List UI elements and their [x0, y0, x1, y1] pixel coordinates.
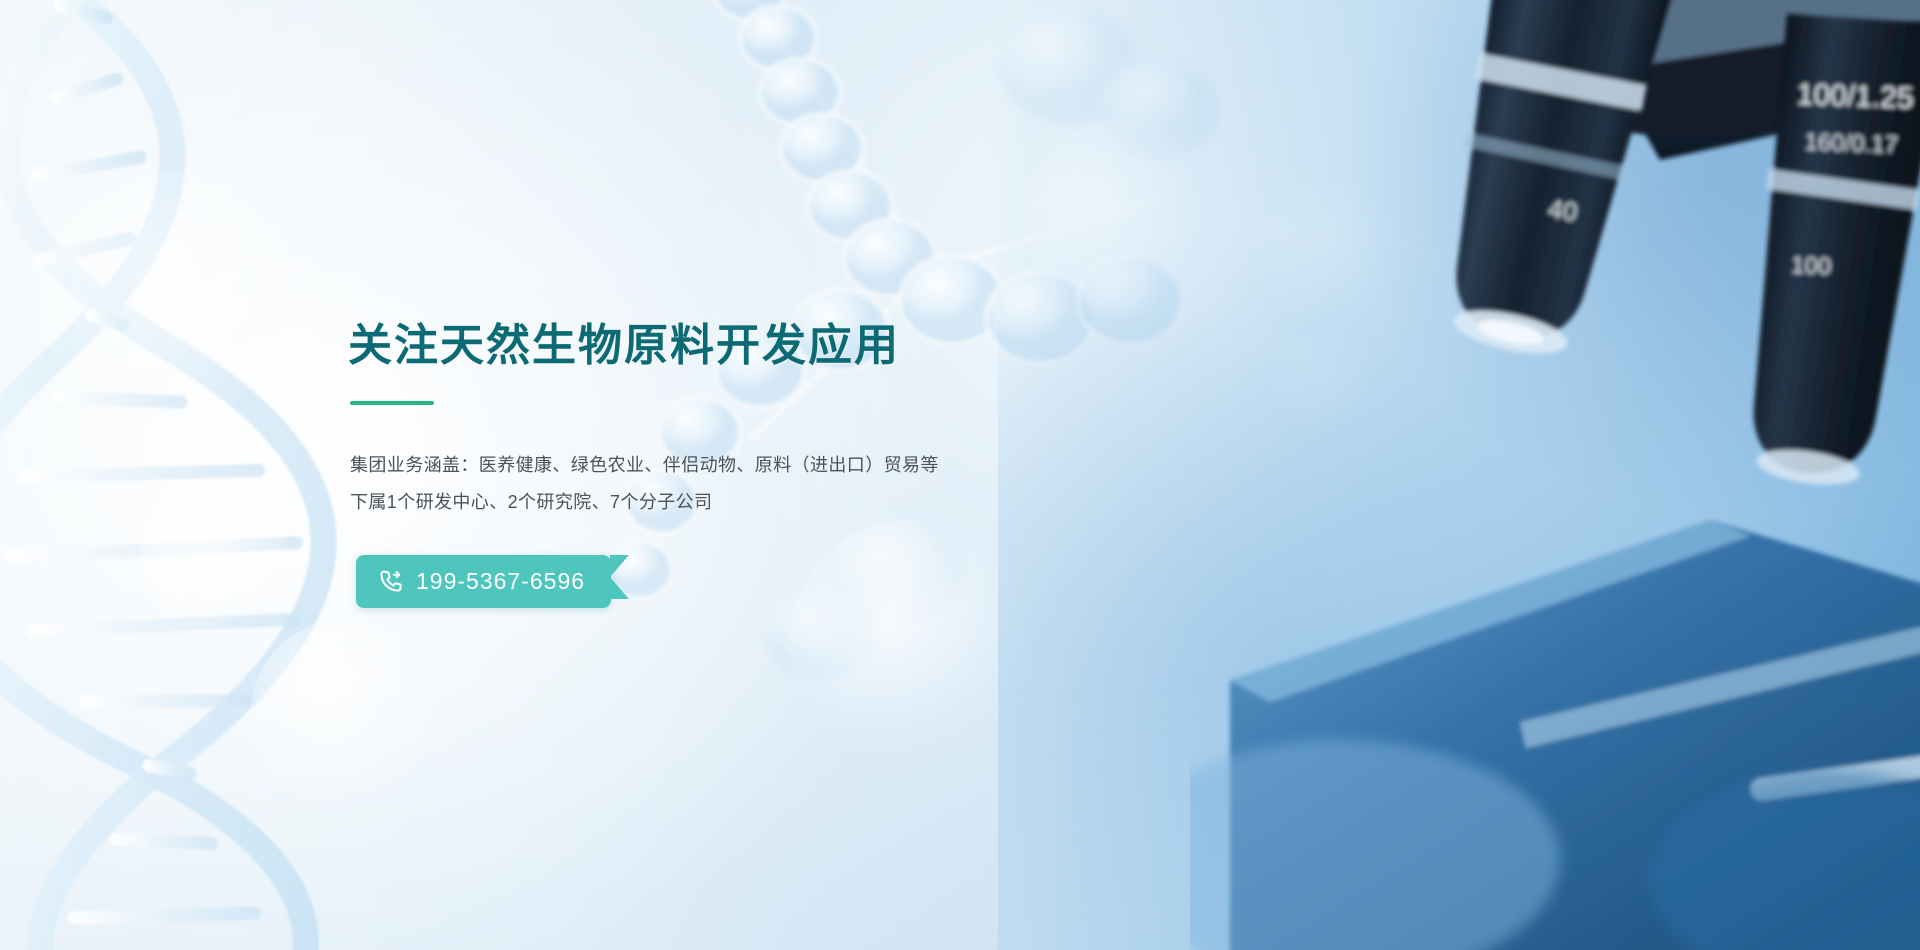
svg-text:100/1.25: 100/1.25	[1796, 78, 1914, 115]
title-accent-bar	[350, 401, 434, 405]
svg-text:100: 100	[1791, 252, 1832, 280]
svg-text:40: 40	[1547, 193, 1580, 227]
svg-text:160/0.17: 160/0.17	[1804, 129, 1898, 159]
page-title: 关注天然生物原料开发应用	[348, 320, 1108, 373]
hero-description-line-2: 下属1个研发中心、2个研究院、7个分子公司	[350, 484, 1108, 521]
microscope-graphic: 40 100/1.25 160/0.17 100	[1190, 0, 1920, 950]
phone-forwarded-icon	[378, 568, 404, 594]
hero-banner: 40 100/1.25 160/0.17 100 关注天然生物原料开发应用	[0, 0, 1920, 950]
hero-description-line-1: 集团业务涵盖：医养健康、绿色农业、伴侣动物、原料（进出口）贸易等	[350, 447, 1108, 484]
contact-phone-button[interactable]: 199-5367-6596	[356, 555, 611, 608]
hero-content: 关注天然生物原料开发应用 集团业务涵盖：医养健康、绿色农业、伴侣动物、原料（进出…	[348, 320, 1108, 608]
hero-description: 集团业务涵盖：医养健康、绿色农业、伴侣动物、原料（进出口）贸易等 下属1个研发中…	[350, 447, 1108, 521]
phone-number-label: 199-5367-6596	[416, 568, 585, 595]
